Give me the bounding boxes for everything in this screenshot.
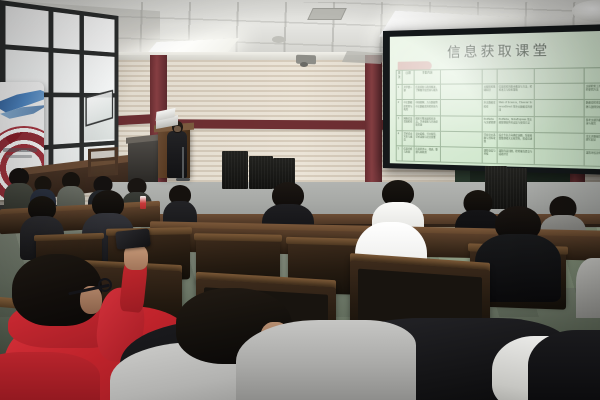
slide-table-cell: 外文数据库检索 [483,100,498,116]
person-torso [528,330,600,400]
slide-table-header-cell [498,68,535,84]
slide-table-cell: 文献检索基础知识 [483,84,498,100]
slide-table-header-cell [585,67,600,84]
pa-speaker [507,168,527,209]
slide-table-cell: 中文数据库检索与利用 [403,100,415,115]
slide-table-cell: 1 [396,85,403,100]
slide-table-cell: 课程总结与考核 [483,148,498,164]
slide-table-cell: 5 [396,146,403,161]
slide-table-cell [441,85,483,101]
person-torso [0,352,100,400]
slide-table-cell [535,84,585,101]
speaker-grill [507,168,527,209]
slide-table-cell: 课程内容回顾，检索报告提交与成绩评定 [498,148,535,165]
banner-text-line [6,155,32,158]
slide-table-cell: 中国知网、万方数据等中文数据库的检索技巧 [415,100,441,116]
slide-table-cell: 信息分析与利用 [403,146,415,162]
slide-table-cell: 4 [396,131,403,146]
slide-table: 周次日期主要内容1开学第一课信息获取与利用概述，了解图书馆资源与服务文献检索基础… [396,67,600,167]
slide-table-cell: Web of Science、Elsevier ScienceDirect 等外… [498,100,535,116]
lecture-hall-photo: 信息获取课堂 周次日期主要内容1开学第一课信息获取与利用概述，了解图书馆资源与服… [0,0,600,400]
speaker-grill [222,151,248,189]
rear-chair [88,147,118,177]
slide-table-cell [441,116,483,132]
slide-table-cell: 课程考核说明 [585,150,600,167]
person-gray-hoodie-front [236,320,416,400]
slide-table-cell: 数据库检索实践与案例分析 [585,100,600,117]
slide-table-cell: 开学第一课 [403,85,415,100]
projection-screen: 信息获取课堂 周次日期主要内容1开学第一课信息获取与利用概述，了解图书馆资源与服… [383,24,600,176]
presenter-body [167,131,187,178]
microphone-stand [182,147,184,180]
slide-table-header-cell [535,67,585,84]
slide-table-header-cell [483,68,498,84]
slide-table-cell: 毕业论文选题与资料收集 [483,132,498,148]
slide-table-cell: EndNote 与文献管理 [483,116,498,132]
slide-table-cell: 参考文献的著录与规范 [585,117,600,134]
slide-table-cell: 论文结构、引文规范、学术道德与论文查重 [415,131,441,147]
slide-table-cell [535,100,585,117]
slide-table-header-cell [441,69,483,85]
slide-table-cell [535,133,585,150]
slide-table-header-cell: 周次 [396,70,403,85]
slide-table-cell: 网络信息资源检索 [403,116,415,131]
slide-table-cell: 信息的评价、筛选、整理与再利用 [415,146,441,162]
slide-table-cell [441,100,483,116]
ceiling-vent [307,8,347,20]
slide-table-header-cell: 主要内容 [415,69,441,85]
slide-table-cell [535,117,585,134]
glasses-lens-icon [98,278,112,292]
smartphone[interactable] [115,228,151,249]
banner-text-line [3,148,37,152]
slide-table-cell: 信息获取与利用概述，了解图书馆资源与服务 [415,85,441,101]
slide-table-header-cell: 日期 [403,70,415,85]
slide-table-cell: 信息检索的基本概念与方法，检索语言与检索策略 [498,84,535,100]
slide-table-cell: 学术论文写作与规范 [403,131,415,147]
ceiling-speaker-icon [272,36,285,43]
pa-speaker [222,151,248,189]
slide-table-cell: 论文开题报告撰写指导 [585,133,600,150]
side-cabinet [128,140,158,182]
drink-cup [140,196,146,209]
slide-table-cell [535,149,585,167]
slide-table-cell: 文献检索工具的使用方法 [585,84,600,101]
projection-screen-surface: 信息获取课堂 周次日期主要内容1开学第一课信息获取与利用概述，了解图书馆资源与服… [390,31,600,170]
person-left-foreground [0,352,100,400]
person-right-foreground [528,330,600,400]
slide-table-cell [441,147,483,164]
slide-table-cell: 结合专业方向确定选题，系统收集整理相关文献资料，形成综述 [498,132,535,149]
presenter-face [174,126,181,132]
slide-table-cell: 搜索引擎高级检索语法，学术搜索与开放获取资源 [415,116,441,132]
slide-table-cell [441,131,483,147]
person-torso [236,320,416,400]
slide-table-cell: EndNote、NoteExpress 等文献管理软件的安装与使用方法 [498,116,535,132]
slide-table-cell: 3 [396,116,403,131]
microphone-stand-base [176,178,190,181]
slide-title: 信息获取课堂 [390,37,600,62]
slide-table-cell: 2 [396,100,403,115]
